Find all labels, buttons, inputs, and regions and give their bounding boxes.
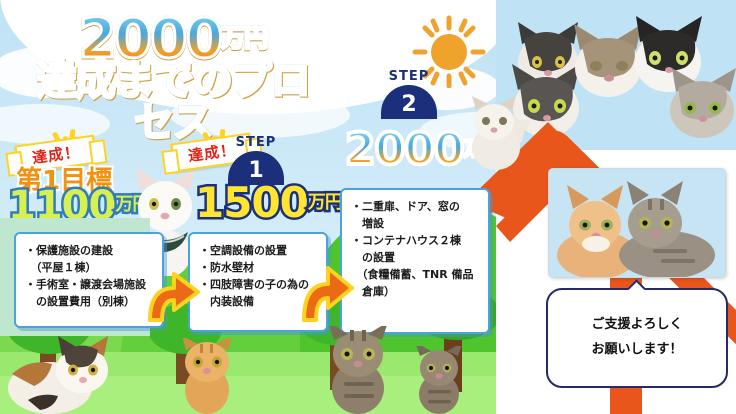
support-callout-bubble: ご支援よろしく お願いします！: [546, 288, 728, 388]
step2-word: STEP: [381, 70, 437, 83]
goal1-detail-box: ・保護施設の建設 （平屋１棟） ・手術室・譲渡会場施設 の設置費用（別棟）: [14, 232, 164, 328]
title-subtitle-line: 達成までのプロセス: [18, 60, 328, 144]
step2-badge: STEP 2: [381, 70, 437, 119]
page-title: 2000万円 達成までのプロセス: [18, 12, 328, 144]
step2-items: ・二重扉、ドア、窓の 増設 ・コンテナハウス２棟 の設置 （食糧備蓄、TNR 備…: [351, 198, 479, 300]
curved-up-arrow-icon: [148, 262, 204, 328]
goal1-items: ・保護施設の建設 （平屋１棟） ・手術室・譲渡会場施設 の設置費用（別棟）: [25, 242, 153, 310]
tabby-cat-small: [406, 346, 472, 414]
step1-amount: 1500万円: [195, 182, 342, 224]
step2-number: 2: [381, 85, 437, 119]
curved-up-arrow-icon: [302, 258, 358, 328]
orange-tabby-cat: [172, 338, 242, 414]
poster-canvas: 2000万円 達成までのプロセス 達成！ 第1目標 1100万円 達成！ STE…: [0, 0, 736, 414]
step2-detail-box: ・二重扉、ドア、窓の 増設 ・コンテナハウス２棟 の設置 （食糧備蓄、TNR 備…: [340, 188, 490, 334]
bubble-tail: [628, 279, 646, 291]
stretching-cat: [470, 96, 532, 176]
cat-photo-card: [548, 168, 726, 278]
step1-items: ・空調設備の設置 ・防水壁材 ・四肢障害の子の為の 内装設備: [199, 242, 317, 310]
tabby-cat-large: [318, 326, 398, 414]
step1-word: STEP: [228, 136, 284, 149]
callout-line-2: お願いします！: [591, 338, 682, 363]
callout-line-1: ご支援よろしく: [591, 313, 682, 338]
calico-cat: [6, 330, 116, 414]
